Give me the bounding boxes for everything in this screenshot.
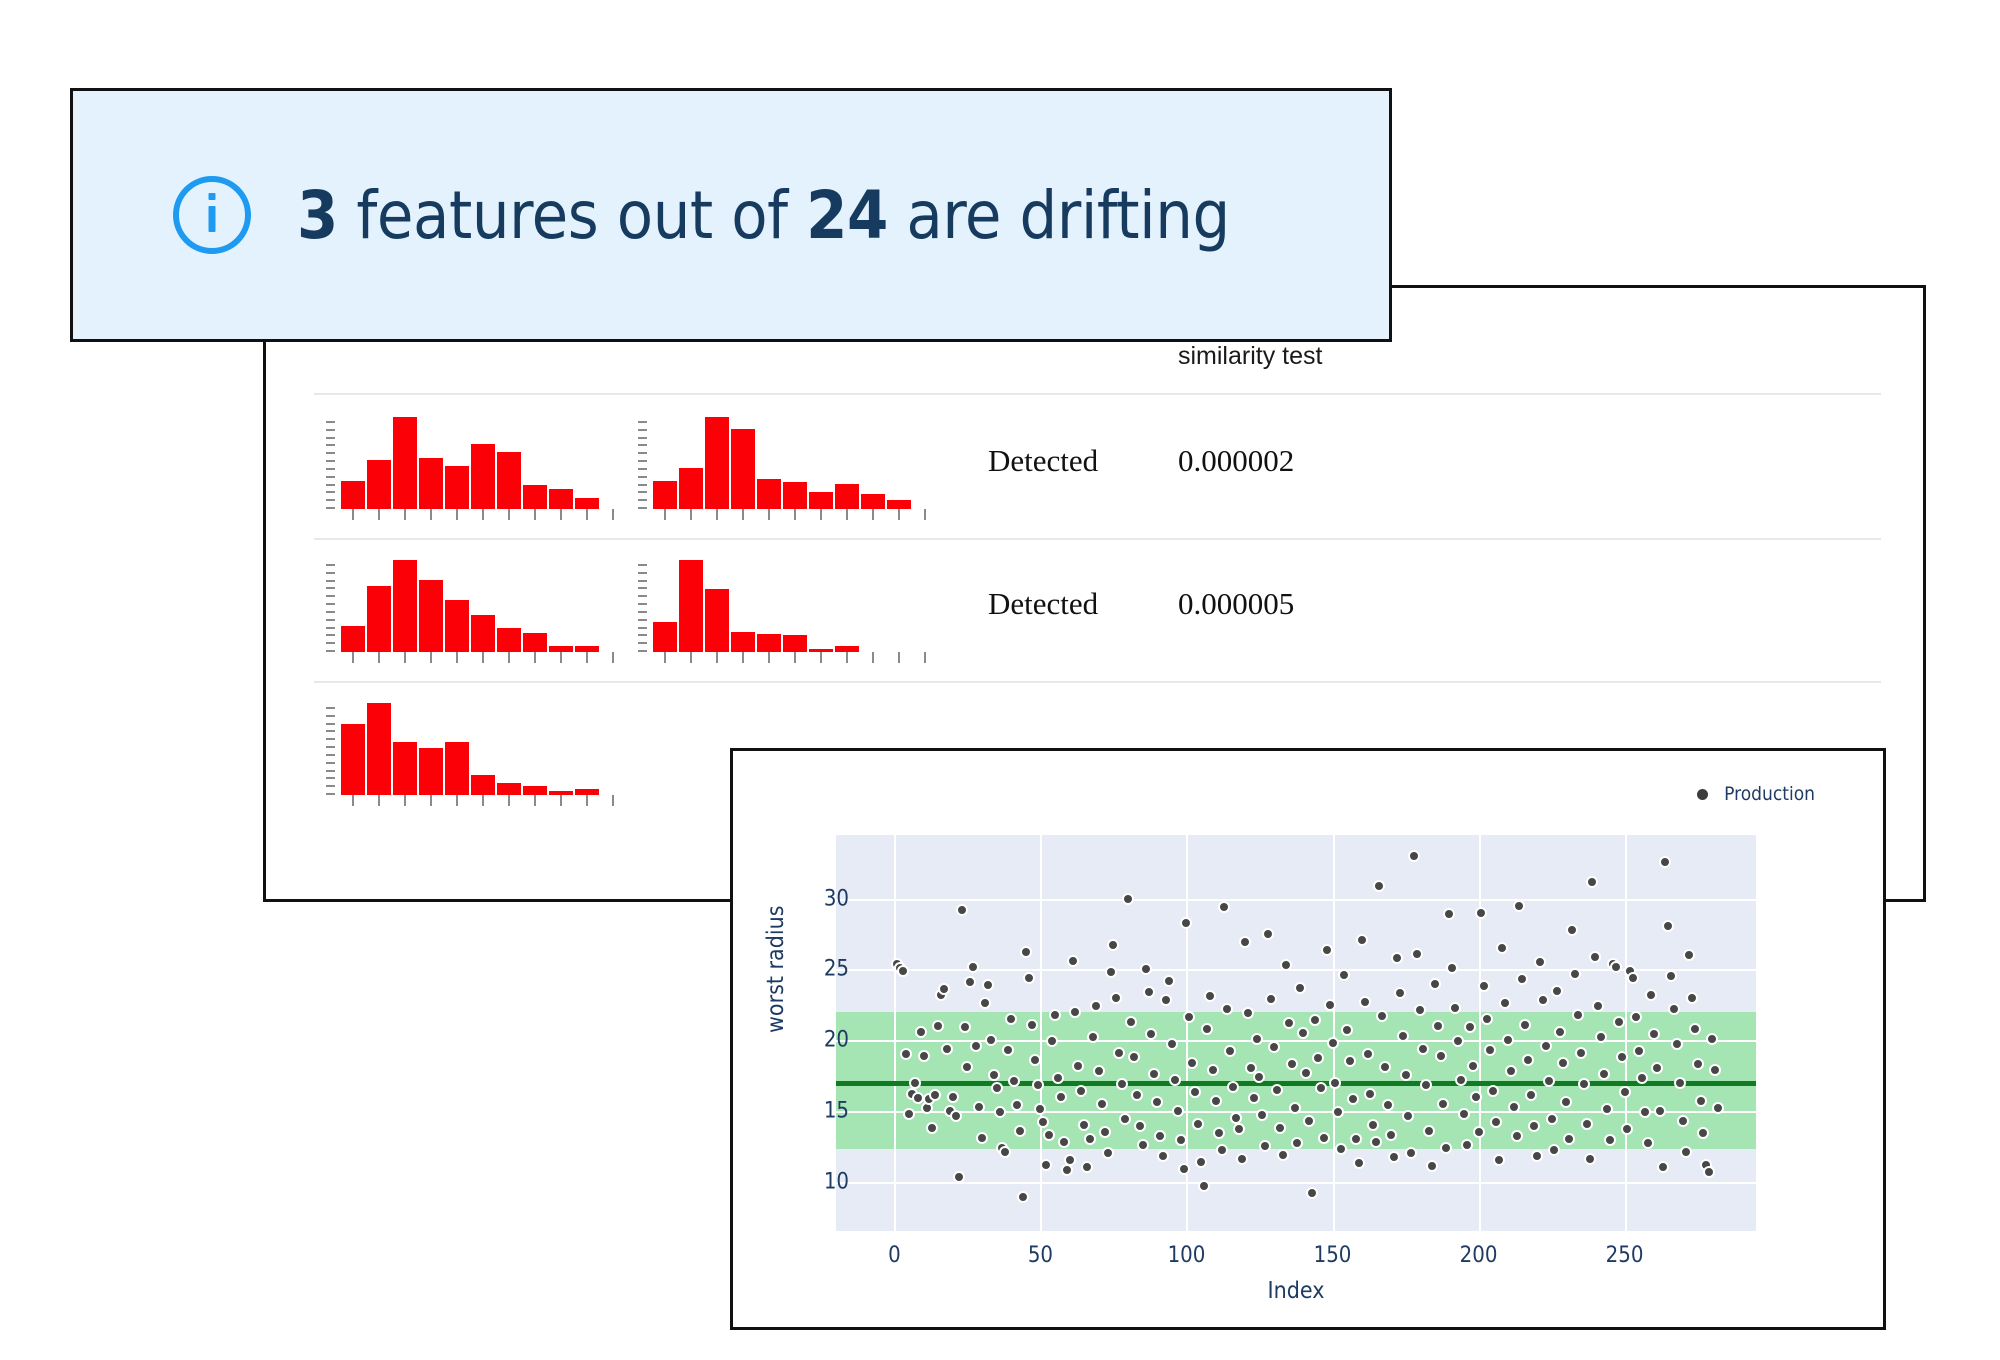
scatter-point [1578, 1078, 1590, 1090]
scatter-point [1692, 1058, 1704, 1070]
scatter-point [1180, 917, 1192, 929]
scatter-point [1107, 939, 1119, 951]
x-axis-tick-label: 0 [888, 1243, 901, 1268]
scatter-point [1689, 1023, 1701, 1035]
scatter-point [1262, 928, 1274, 940]
scatter-point [1227, 1081, 1239, 1093]
scatter-point [1443, 908, 1455, 920]
plot-area [836, 835, 1756, 1231]
scatter-point [1233, 1123, 1245, 1135]
scatter-point [1475, 907, 1487, 919]
scatter-point [1543, 1075, 1555, 1087]
y-axis-tick-label: 25 [789, 957, 849, 982]
scatter-point [1659, 856, 1671, 868]
scatter-point [1154, 1130, 1166, 1142]
scatter-point [1075, 1085, 1087, 1097]
reference-histogram [326, 556, 626, 666]
scatter-point [1011, 1099, 1023, 1111]
scatter-point [938, 983, 950, 995]
scatter-point [1277, 1149, 1289, 1161]
scatter-point [1189, 1086, 1201, 1098]
scatter-plot: worst radius Index 101520253005010015020… [733, 751, 1883, 1327]
scatter-point [1581, 1118, 1593, 1130]
histogram-x-axis-ticks [340, 795, 626, 806]
scatter-point [1321, 944, 1333, 956]
scatter-point [1026, 1019, 1038, 1031]
histogram-x-axis-ticks [340, 509, 626, 520]
scatter-point [1478, 980, 1490, 992]
scatter-point [1528, 1120, 1540, 1132]
scatter-point [1300, 1067, 1312, 1079]
histogram-y-axis-ticks [326, 421, 335, 509]
scatter-point [1627, 972, 1639, 984]
total-feature-count: 24 [806, 177, 888, 254]
scatter-point [1379, 1061, 1391, 1073]
scatter-point [1102, 1147, 1114, 1159]
scatter-point [1677, 1115, 1689, 1127]
scatter-point [1157, 1150, 1169, 1162]
scatter-point [1093, 1065, 1105, 1077]
scatter-point [926, 1122, 938, 1134]
scatter-point [1633, 1045, 1645, 1057]
scatter-point [964, 976, 976, 988]
info-circle-icon [173, 176, 251, 254]
scatter-point [1610, 961, 1622, 973]
production-distribution-histogram [638, 413, 938, 523]
scatter-point [1440, 1142, 1452, 1154]
scatter-point [1362, 1048, 1374, 1060]
scatter-point [1481, 1013, 1493, 1025]
scatter-point [1251, 1033, 1263, 1045]
scatter-point [1639, 1106, 1651, 1118]
scatter-point [1706, 1033, 1718, 1045]
histogram-y-axis-ticks [638, 421, 647, 509]
gridline-vertical [1040, 835, 1042, 1231]
scatter-point [1221, 1003, 1233, 1015]
scatter-point [1411, 948, 1423, 960]
scatter-point [1458, 1108, 1470, 1120]
x-axis-label: Index [1268, 1278, 1325, 1304]
histogram-x-axis-ticks [340, 652, 626, 663]
scatter-point [1134, 1120, 1146, 1132]
scatter-point [915, 1026, 927, 1038]
scatter-point [1096, 1098, 1108, 1110]
scatter-point [1642, 1137, 1654, 1149]
scatter-point [1554, 1026, 1566, 1038]
scatter-point [982, 979, 994, 991]
scatter-point [1046, 1035, 1058, 1047]
y-axis-tick-label: 20 [789, 1028, 849, 1053]
scatter-point [1429, 978, 1441, 990]
scatter-point [1367, 1119, 1379, 1131]
scatter-point [1055, 1091, 1067, 1103]
scatter-point [1467, 1060, 1479, 1072]
scatter-point [1303, 1115, 1315, 1127]
scatter-point [1473, 1126, 1485, 1138]
scatter-point [1341, 1024, 1353, 1036]
scatter-point [1373, 880, 1385, 892]
scatter-point [1621, 1123, 1633, 1135]
scatter-point [1408, 850, 1420, 862]
scatter-point [1069, 1006, 1081, 1018]
scatter-point [1487, 1085, 1499, 1097]
scatter-point [918, 1050, 930, 1062]
scatter-point [976, 1132, 988, 1144]
scatter-point [1216, 1144, 1228, 1156]
scatter-point [1207, 1064, 1219, 1076]
scatter-point [1113, 1047, 1125, 1059]
scatter-point [1248, 1092, 1260, 1104]
scatter-point [973, 1101, 985, 1113]
scatter-point [1516, 973, 1528, 985]
scatter-point [1067, 955, 1079, 967]
scatter-point [1548, 1144, 1560, 1156]
scatter-point [1043, 1129, 1055, 1141]
scatter-point [1023, 972, 1035, 984]
histogram-x-axis-ticks [652, 509, 938, 520]
scatter-point [1397, 1030, 1409, 1042]
scatter-point [1426, 1160, 1438, 1172]
scatter-point [1551, 985, 1563, 997]
scatter-point [1297, 1027, 1309, 1039]
scatter-point [1511, 1130, 1523, 1142]
scatter-point [1513, 900, 1525, 912]
scatter-point [1595, 1031, 1607, 1043]
scatter-point [1569, 968, 1581, 980]
histogram-bars [340, 417, 626, 509]
histogram-bars [340, 560, 626, 652]
scatter-point [1452, 1035, 1464, 1047]
scatter-point [1253, 1071, 1265, 1083]
scatter-point [1712, 1102, 1724, 1114]
scatter-point [1592, 1000, 1604, 1012]
scatter-point [1192, 1118, 1204, 1130]
scatter-point [1470, 1091, 1482, 1103]
histogram-x-axis-ticks [652, 652, 938, 663]
scatter-point [1584, 1153, 1596, 1165]
scatter-point [1414, 1004, 1426, 1016]
scatter-point [1265, 993, 1277, 1005]
scatter-point [1020, 946, 1032, 958]
scatter-point [1286, 1058, 1298, 1070]
scatter-point [1630, 1011, 1642, 1023]
data-drift-status: Detected [988, 443, 1098, 479]
scatter-point [956, 904, 968, 916]
scatter-point [1423, 1125, 1435, 1137]
scatter-point [1435, 1050, 1447, 1062]
scatter-point [1651, 1062, 1663, 1074]
scatter-point [1534, 956, 1546, 968]
scatter-point [932, 1020, 944, 1032]
scatter-point [1329, 1077, 1341, 1089]
gridline-vertical [1625, 835, 1627, 1231]
scatter-point [1417, 1043, 1429, 1055]
histogram-bars [652, 560, 938, 652]
scatter-point [1382, 1099, 1394, 1111]
scatter-point [1213, 1127, 1225, 1139]
scatter-point [1143, 986, 1155, 998]
scatter-point [967, 961, 979, 973]
scatter-point [1175, 1134, 1187, 1146]
scatter-point [1034, 1103, 1046, 1115]
scatter-point [1613, 1016, 1625, 1028]
scatter-point [1490, 1116, 1502, 1128]
scatter-point [1616, 1051, 1628, 1063]
scatter-point [1017, 1191, 1029, 1203]
scatter-point [1519, 1019, 1531, 1031]
scatter-point [1008, 1075, 1020, 1087]
scatter-point [961, 1061, 973, 1073]
scatter-point [1347, 1093, 1359, 1105]
scatter-point [1105, 966, 1117, 978]
scatter-point [1178, 1163, 1190, 1175]
scatter-point [941, 1043, 953, 1055]
scatter-point [1224, 1045, 1236, 1057]
banner-suffix-text: are drifting [888, 177, 1230, 254]
scatter-point [1128, 1051, 1140, 1063]
scatter-point [1271, 1084, 1283, 1096]
scatter-point [1327, 1037, 1339, 1049]
scatter-point [1703, 1166, 1715, 1178]
scatter-point [1680, 1146, 1692, 1158]
scatter-point [1598, 1068, 1610, 1080]
x-axis-tick-label: 150 [1314, 1243, 1352, 1268]
scatter-point [1116, 1078, 1128, 1090]
scatter-point [1151, 1096, 1163, 1108]
scatter-point [1446, 962, 1458, 974]
scatter-point [1540, 1040, 1552, 1052]
y-axis-tick-label: 15 [789, 1098, 849, 1123]
scatter-point [1204, 990, 1216, 1002]
scatter-point [1432, 1020, 1444, 1032]
scatter-point [1090, 1000, 1102, 1012]
scatter-point [1309, 1014, 1321, 1026]
scatter-point [1078, 1119, 1090, 1131]
scatter-point [1002, 1044, 1014, 1056]
scatter-point [1183, 1011, 1195, 1023]
p-value-header-line-2: similarity test [1178, 341, 1322, 372]
scatter-point [1072, 1060, 1084, 1072]
scatter-point [1557, 1057, 1569, 1069]
scatter-point [1356, 934, 1368, 946]
scatter-point [1385, 1129, 1397, 1141]
scatter-point [1686, 992, 1698, 1004]
scatter-point [1125, 1016, 1137, 1028]
scatter-point [1537, 994, 1549, 1006]
scatter-point [1236, 1153, 1248, 1165]
scatter-point [1522, 1054, 1534, 1066]
scatter-point [1283, 1017, 1295, 1029]
y-axis-label: worst radius [763, 905, 789, 1033]
scatter-point [1586, 876, 1598, 888]
scatter-point [909, 1077, 921, 1089]
scatter-point [1186, 1057, 1198, 1069]
scatter-point [1405, 1147, 1417, 1159]
scatter-point [1335, 1143, 1347, 1155]
scatter-point [991, 1082, 1003, 1094]
scatter-point [1391, 952, 1403, 964]
y-axis-tick-label: 30 [789, 886, 849, 911]
x-axis-tick-label: 250 [1606, 1243, 1644, 1268]
scatter-point [1645, 989, 1657, 1001]
scatter-point [1683, 949, 1695, 961]
scatter-point [1695, 1095, 1707, 1107]
gridline-vertical [1333, 835, 1335, 1231]
scatter-point [1493, 1154, 1505, 1166]
scatter-point [1525, 1089, 1537, 1101]
scatter-point [1364, 1088, 1376, 1100]
scatter-point [1662, 920, 1674, 932]
gridline-vertical [1479, 835, 1481, 1231]
gridline-vertical [894, 835, 896, 1231]
scatter-point [1148, 1068, 1160, 1080]
table-row[interactable]: Detected0.000002 [266, 395, 1923, 538]
scatter-point [1005, 1013, 1017, 1025]
scatter-point [1259, 1140, 1271, 1152]
scatter-point [1338, 969, 1350, 981]
mean-reference-line [836, 1081, 1756, 1086]
scatter-point [1218, 901, 1230, 913]
scatter-point [1654, 1105, 1666, 1117]
scatter-point [1464, 1021, 1476, 1033]
scatter-point [1394, 987, 1406, 999]
scatter-point [1256, 1109, 1268, 1121]
scatter-point [950, 1110, 962, 1122]
gridline-horizontal [836, 899, 1756, 901]
scatter-point [985, 1034, 997, 1046]
scatter-point [1140, 963, 1152, 975]
scatter-point [1119, 1113, 1131, 1125]
scatter-point [1324, 999, 1336, 1011]
scatter-point [1122, 893, 1134, 905]
scatter-point [1455, 1074, 1467, 1086]
scatter-point [1201, 1023, 1213, 1035]
data-drift-status: Detected [988, 586, 1098, 622]
scatter-point [1563, 1133, 1575, 1145]
scatter-point [1169, 1074, 1181, 1086]
scatter-point [1461, 1139, 1473, 1151]
production-distribution-histogram [638, 556, 938, 666]
scatter-point [1560, 1096, 1572, 1108]
scatter-point [1037, 1116, 1049, 1128]
scatter-point [1163, 975, 1175, 987]
scatter-point [1388, 1151, 1400, 1163]
scatter-point [1306, 1187, 1318, 1199]
scatter-point [1350, 1133, 1362, 1145]
scatter-point [1332, 1106, 1344, 1118]
scatter-point [1648, 1028, 1660, 1040]
drift-summary-banner: 3 features out of 24 are drifting [70, 88, 1392, 342]
x-axis-tick-label: 100 [1168, 1243, 1206, 1268]
scatter-point [1370, 1136, 1382, 1148]
scatter-point [1437, 1098, 1449, 1110]
scatter-point [1058, 1136, 1070, 1148]
scatter-point [947, 1091, 959, 1103]
scatter-point [929, 1089, 941, 1101]
scatter-point [1052, 1072, 1064, 1084]
scatter-point [1230, 1112, 1242, 1124]
scatter-point [979, 997, 991, 1009]
table-row[interactable]: Detected0.000005 [266, 538, 1923, 681]
scatter-point [1665, 970, 1677, 982]
scatter-point [1131, 1089, 1143, 1101]
scatter-point [1604, 1134, 1616, 1146]
reference-histogram [326, 413, 626, 523]
scatter-point [1400, 1069, 1412, 1081]
scatter-point [1508, 1101, 1520, 1113]
drift-summary-text: 3 features out of 24 are drifting [297, 177, 1230, 254]
scatter-point [988, 1069, 1000, 1081]
scatter-point [1032, 1079, 1044, 1091]
scatter-point [1420, 1079, 1432, 1091]
scatter-point [1172, 1105, 1184, 1117]
scatter-point [903, 1108, 915, 1120]
histogram-y-axis-ticks [326, 707, 335, 795]
scatter-point [1239, 936, 1251, 948]
scatter-point [1344, 1055, 1356, 1067]
scatter-point [1160, 994, 1172, 1006]
scatter-point [1566, 924, 1578, 936]
drifting-feature-count: 3 [297, 177, 338, 254]
scatter-point [1291, 1137, 1303, 1149]
scatter-point [953, 1171, 965, 1183]
scatter-point [1709, 1064, 1721, 1076]
histogram-y-axis-ticks [326, 564, 335, 652]
histogram-y-axis-ticks [638, 564, 647, 652]
banner-mid-text: features out of [338, 177, 806, 254]
scatter-point [970, 1040, 982, 1052]
scatter-point [1268, 1041, 1280, 1053]
y-axis-tick-label: 10 [789, 1169, 849, 1194]
scatter-point [1242, 1007, 1254, 1019]
scatter-point [1697, 1127, 1709, 1139]
scatter-point [1274, 1122, 1286, 1134]
scatter-point [1312, 1052, 1324, 1064]
scatter-point [1040, 1159, 1052, 1171]
scatter-point [1499, 997, 1511, 1009]
scatter-point [1137, 1139, 1149, 1151]
scatter-point [1636, 1072, 1648, 1084]
production-histogram [638, 413, 938, 523]
scatter-point [1575, 1047, 1587, 1059]
scatter-point [1376, 1010, 1388, 1022]
scatter-point [1674, 1077, 1686, 1089]
scatter-point [1198, 1180, 1210, 1192]
scatter-point [1359, 996, 1371, 1008]
scatter-point [1029, 1054, 1041, 1066]
reference-distribution-histogram [326, 413, 626, 523]
scatter-point [1402, 1110, 1414, 1122]
scatter-point [994, 1106, 1006, 1118]
scatter-point [1064, 1154, 1076, 1166]
reference-distribution-histogram [326, 699, 626, 809]
histogram-bars [340, 703, 626, 795]
scatter-point [1110, 992, 1122, 1004]
p-value-cell: 0.000002 [1178, 443, 1294, 479]
scatter-point [1210, 1095, 1222, 1107]
scatter-point [1087, 1031, 1099, 1043]
scatter-point [1145, 1028, 1157, 1040]
scatter-point [1049, 1009, 1061, 1021]
histogram-bars [652, 417, 938, 509]
scatter-point [897, 965, 909, 977]
x-axis-tick-label: 50 [1028, 1243, 1053, 1268]
scatter-point [1589, 951, 1601, 963]
scatter-point [1084, 1133, 1096, 1145]
scatter-point [1014, 1125, 1026, 1137]
scatter-point [900, 1048, 912, 1060]
gridline-horizontal [836, 1182, 1756, 1184]
